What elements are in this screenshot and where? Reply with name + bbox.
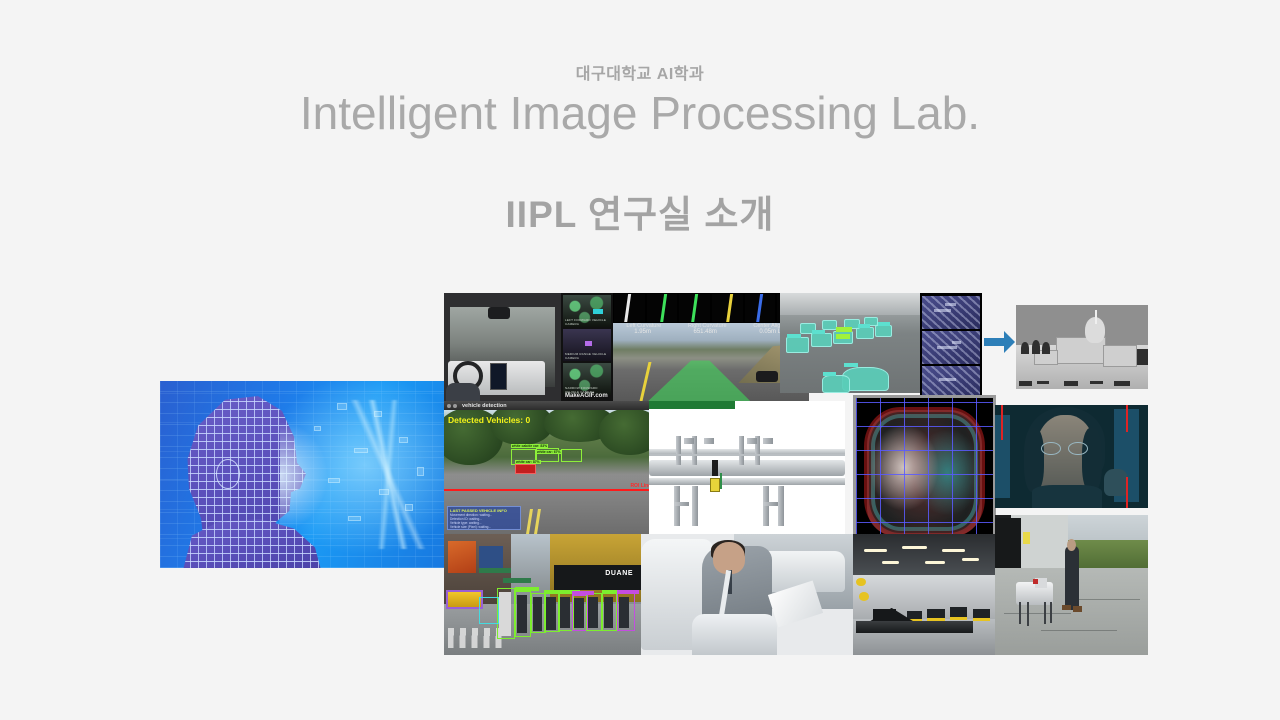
info-line-4: Vehicle size (Pixel): waiting... [450,525,518,529]
duane-signage: DUANE [605,570,633,577]
window-title-bar[interactable]: vehicle detection [444,401,653,410]
roi-line-label: ROI Line [630,483,651,489]
collage-tile-car-interior [444,293,561,401]
metric-value-left-curvature: 1.95m [634,329,651,335]
window-control-icon[interactable] [453,404,457,408]
last-passed-vehicle-info-panel: LAST PASSED VEHICLE INFO Movement direct… [447,506,521,530]
ai-wireframe-head-image [160,381,445,568]
research-image-collage: LEFT FORWARD VEHICLE CAMERA MEDIUM RANGE… [444,293,1148,655]
collage-tile-sensor-stack: LEFT FORWARD VEHICLE CAMERA MEDIUM RANGE… [561,293,613,401]
metric-label-left-curvature: Left Curvature [626,323,661,329]
detection-label-1: white cab/de car: 83% [511,444,548,448]
window-control-icon[interactable] [447,404,451,408]
collage-tile-warehouse-robotics [853,534,996,655]
department-label: 대구대학교 AI학과 [0,60,1280,84]
makeagif-watermark: MakeAGIF.com [565,393,608,399]
korean-heading: IIPL 연구실 소개 [0,184,1280,238]
metric-value-right-curvature: 651.48m [693,329,716,335]
process-arrow-icon [982,327,1016,357]
detection-label-2: white car: 67% [536,450,562,454]
lab-title: Intelligent Image Processing Lab. [0,86,1280,140]
collage-tile-pedestrian-detection: DUANE [444,534,641,655]
collage-tile-medical-ct-scan [853,395,996,550]
detected-vehicles-counter: Detected Vehicles: 0 [448,415,530,425]
collage-tile-3d-reconstruction [1016,305,1148,389]
metric-label-right-curvature: Right Curvature [688,323,727,329]
collage-tile-quadruped-robot [995,515,1148,655]
collage-tile-guardrail-sensor [649,401,845,534]
collage-tile-aerial-imagery [920,293,982,401]
collage-tile-vehicle-segmentation [780,293,920,393]
face-glow [280,421,328,531]
collage-tile-portrait-recognition [995,405,1148,508]
collage-tile-vehicle-detection: white cab/de car: 83% white car: 67% whi… [444,401,653,534]
collage-tile-autonomous-passenger [641,534,853,655]
window-title: vehicle detection [462,403,507,409]
presentation-slide: 대구대학교 AI학과 Intelligent Image Processing … [0,0,1280,720]
